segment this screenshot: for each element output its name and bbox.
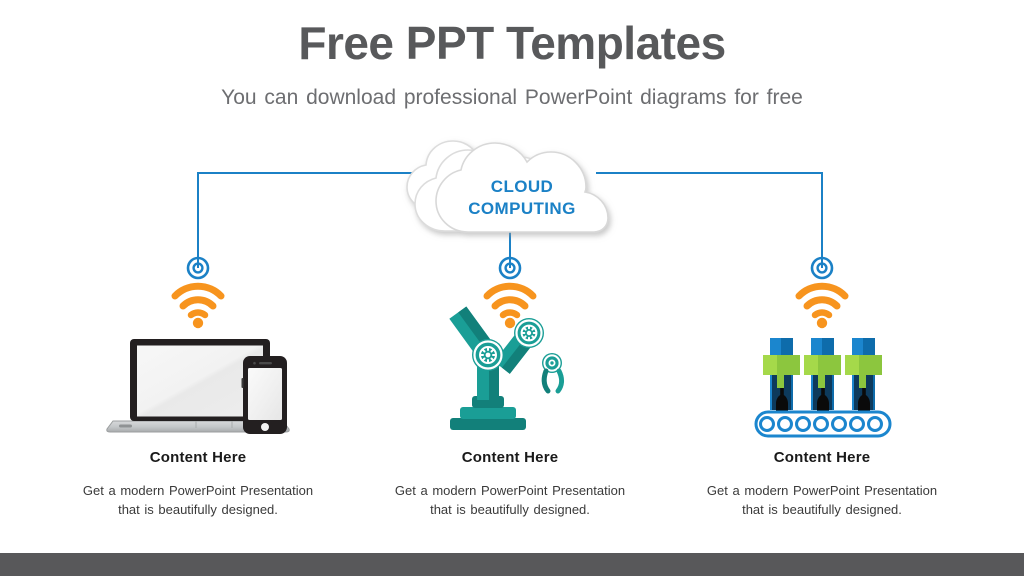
wifi-arc-mid [807,300,837,306]
conveyor-rollers [761,418,882,431]
wifi-signal-icon [799,286,845,328]
laptop-and-phone-icon [107,339,289,434]
footer-bar [0,553,1024,576]
robot-elbow-joint-icon [514,318,544,348]
caption-heading: Content Here [672,449,972,466]
phone-speaker-icon [259,362,272,364]
wifi-dot-icon [817,318,827,328]
roller-6 [851,418,864,431]
robot-shoulder-joint-icon [472,339,504,371]
wifi-dot-icon [505,318,515,328]
wifi-arc-inner [191,312,205,315]
filler-column-3 [845,338,882,412]
roller-7 [869,418,882,431]
filler-nozzle-chip [777,374,784,388]
laptop-trackpad-notch [119,425,132,428]
wifi-signal-icon [175,286,221,328]
node-devices-signal [175,258,221,328]
robot-base-bottom [450,418,526,430]
filler-column-1 [763,338,800,412]
roller-1 [761,418,774,431]
node-robot-signal [487,258,533,328]
wifi-arc-mid [183,300,213,306]
wifi-arc-inner [815,312,829,315]
wifi-arc-outer [799,286,845,296]
filler-nozzle-chip [859,374,866,388]
wifi-arc-outer [487,286,533,296]
filler-nozzle-chip [818,374,825,388]
caption-heading: Content Here [48,449,348,466]
wifi-arc-outer [175,286,221,296]
phone-side-button [242,378,244,388]
robot-base-mid [460,407,516,419]
roller-4 [815,418,828,431]
caption-body-line-1: Get a modern PowerPoint Presentation [360,482,660,501]
robot-gripper-left-claw [544,371,548,391]
caption-block-1: Content Here Get a modern PowerPoint Pre… [48,449,348,520]
caption-body: Get a modern PowerPoint Presentation tha… [672,482,972,520]
caption-body-line-1: Get a modern PowerPoint Presentation [672,482,972,501]
caption-body-line-1: Get a modern PowerPoint Presentation [48,482,348,501]
filler-band-dark [818,355,841,375]
caption-body: Get a modern PowerPoint Presentation tha… [360,482,660,520]
node-production-signal [799,258,845,328]
caption-body-line-2: that is beautifully designed. [48,501,348,520]
phone-camera-icon [253,362,256,365]
filler-band-light [804,355,818,375]
slide-canvas: Free PPT Templates You can download prof… [0,0,1024,576]
filler-column-2 [804,338,841,412]
filler-band-dark [859,355,882,375]
wifi-dot-icon [193,318,203,328]
filler-band-light [845,355,859,375]
wifi-arc-mid [495,300,525,306]
filler-band-light [763,355,777,375]
roller-5 [833,418,846,431]
roller-3 [797,418,810,431]
caption-body-line-2: that is beautifully designed. [360,501,660,520]
caption-block-3: Content Here Get a modern PowerPoint Pre… [672,449,972,520]
phone-home-button[interactable] [261,423,269,431]
filler-band-dark [777,355,800,375]
caption-body-line-2: that is beautifully designed. [672,501,972,520]
phone-screen [248,368,282,420]
roller-2 [779,418,792,431]
bottling-conveyor-icon [756,338,890,436]
connector-right [596,173,822,268]
caption-heading: Content Here [360,449,660,466]
caption-block-2: Content Here Get a modern PowerPoint Pre… [360,449,660,520]
robot-gripper-right-claw [558,371,562,391]
wifi-arc-inner [503,312,517,315]
cloud-shape [407,141,608,232]
caption-body: Get a modern PowerPoint Presentation tha… [48,482,348,520]
